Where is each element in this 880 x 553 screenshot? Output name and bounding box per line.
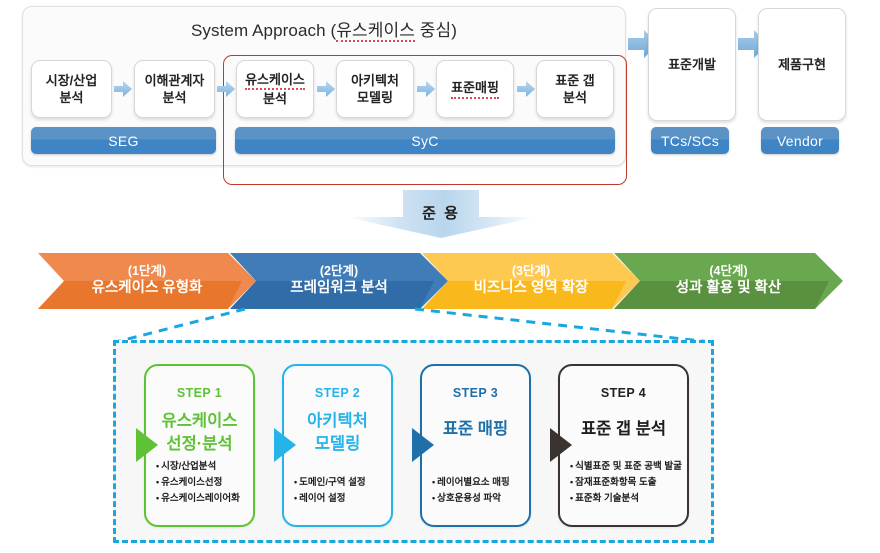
stage-4[interactable]: (4단계) 성과 활용 및 확산 [614, 253, 843, 309]
node-line-2: 분석 [263, 90, 287, 107]
step-card-2[interactable]: STEP 2 아키텍처 모델링 도메인/구역 설정 레이어 설정 [282, 364, 393, 527]
step-number: STEP 4 [560, 386, 687, 400]
bullet-item: 상호운용성 파악 [432, 491, 523, 507]
role-bar-label: TCs/SCs [661, 133, 719, 149]
framework-analysis-detail-panel: STEP 1 유스케이스 선정·분석 시장/산업분석 유스케이스선정 유스케이스… [113, 340, 714, 543]
junyong-label: 준 용 [346, 202, 536, 223]
role-bar-seg: SEG [31, 127, 216, 154]
node-line-2: 분석 [563, 89, 587, 106]
stage-2[interactable]: (2단계) 프레임워크 분석 [230, 253, 448, 309]
step-title: 표준 갭 분석 [560, 418, 687, 441]
step-number: STEP 2 [284, 386, 391, 400]
bullet-item: 시장/산업분석 [156, 459, 247, 475]
node-line-2: 분석 [60, 89, 84, 106]
arrow-right-icon-2 [217, 81, 235, 97]
step-arrow-icon-2 [274, 428, 296, 462]
arrow-right-icon-5 [517, 81, 535, 97]
step-bullets: 레이어별요소 매핑 상호운용성 파악 [432, 475, 523, 507]
node-label: 제품구현 [778, 56, 826, 73]
step-card-4[interactable]: STEP 4 표준 갭 분석 식별표준 및 표준 공백 발굴 잠재표준화항목 도… [558, 364, 689, 527]
step-number: STEP 3 [422, 386, 529, 400]
role-bar-tcs-scs: TCs/SCs [651, 127, 729, 154]
step-arrow-icon-4 [550, 428, 572, 462]
node-standard-mapping[interactable]: 표준매핑 [436, 60, 514, 118]
step-title-line-2: 선정·분석 [166, 435, 232, 453]
panel-title-spellchecked: 유스케이스 [336, 21, 415, 42]
node-line-1: 표준 갭 [555, 72, 595, 89]
step-title-line-1: 표준 매핑 [443, 420, 508, 438]
node-standard-development[interactable]: 표준개발 [648, 8, 736, 121]
node-line-1: 아키텍처 [351, 72, 399, 89]
step-bullets: 도메인/구역 설정 레이어 설정 [294, 475, 385, 507]
step-title-line-1: 아키텍처 [307, 412, 368, 430]
step-bullets: 식별표준 및 표준 공백 발굴 잠재표준화항목 도출 표준화 기술분석 [570, 459, 681, 507]
junyong-down-arrow: 준 용 [346, 190, 536, 238]
step-card-3[interactable]: STEP 3 표준 매핑 레이어별요소 매핑 상호운용성 파악 [420, 364, 531, 527]
stage-1[interactable]: (1단계) 유스케이스 유형화 [38, 253, 256, 309]
node-line-1: 유스케이스 [245, 71, 305, 90]
node-line-1: 이해관계자 [145, 72, 205, 89]
node-product-implementation[interactable]: 제품구현 [758, 8, 846, 121]
diagram-canvas: System Approach (유스케이스 중심) 시장/산업 분석 이해관계… [0, 0, 880, 553]
arrow-right-icon-4 [417, 81, 435, 97]
step-bullets: 시장/산업분석 유스케이스선정 유스케이스레이어화 [156, 459, 247, 507]
bullet-item: 레이어별요소 매핑 [432, 475, 523, 491]
node-architecture-modeling[interactable]: 아키텍처 모델링 [336, 60, 414, 118]
step-title-line-1: 유스케이스 [162, 412, 238, 430]
node-market-industry-analysis[interactable]: 시장/산업 분석 [31, 60, 112, 118]
role-bar-label: Vendor [777, 133, 823, 149]
node-line-1: 시장/산업 [46, 72, 97, 89]
arrow-right-icon-3 [317, 81, 335, 97]
step-card-1[interactable]: STEP 1 유스케이스 선정·분석 시장/산업분석 유스케이스선정 유스케이스… [144, 364, 255, 527]
node-line-2: 분석 [163, 89, 187, 106]
bullet-item: 잠재표준화항목 도출 [570, 475, 681, 491]
stage-chevron-band: (1단계) 유스케이스 유형화 (2단계) 프레임워크 분석 (3단계) 비즈니… [38, 253, 843, 309]
bullet-item: 유스케이스레이어화 [156, 491, 247, 507]
step-number: STEP 1 [146, 386, 253, 400]
panel-title: System Approach (유스케이스 중심) [23, 16, 625, 41]
node-line-1: 표준매핑 [451, 79, 499, 98]
step-title: 표준 매핑 [422, 418, 529, 441]
step-title-line-1: 표준 갭 분석 [581, 420, 666, 438]
role-bar-label: SyC [411, 133, 438, 149]
bullet-item: 유스케이스선정 [156, 475, 247, 491]
bullet-item: 레이어 설정 [294, 491, 385, 507]
panel-title-tail: 중심) [415, 21, 457, 40]
bullet-item: 식별표준 및 표준 공백 발굴 [570, 459, 681, 475]
role-bar-syc: SyC [235, 127, 615, 154]
bullet-item: 도메인/구역 설정 [294, 475, 385, 491]
node-label: 표준개발 [668, 56, 716, 73]
arrow-right-icon-1 [114, 81, 132, 97]
step-arrow-icon-3 [412, 428, 434, 462]
step-title: 유스케이스 선정·분석 [146, 410, 253, 456]
step-title: 아키텍처 모델링 [284, 410, 391, 456]
node-line-2: 모델링 [357, 89, 393, 106]
node-standard-gap-analysis[interactable]: 표준 갭 분석 [536, 60, 614, 118]
bullet-item: 표준화 기술분석 [570, 491, 681, 507]
node-usecase-analysis[interactable]: 유스케이스 분석 [236, 60, 314, 118]
step-arrow-icon-1 [136, 428, 158, 462]
step-title-line-2: 모델링 [315, 435, 361, 453]
role-bar-vendor: Vendor [761, 127, 839, 154]
panel-title-plain: System Approach ( [191, 21, 336, 40]
stage-3[interactable]: (3단계) 비즈니스 영역 확장 [422, 253, 640, 309]
node-stakeholder-analysis[interactable]: 이해관계자 분석 [134, 60, 215, 118]
role-bar-label: SEG [108, 133, 138, 149]
